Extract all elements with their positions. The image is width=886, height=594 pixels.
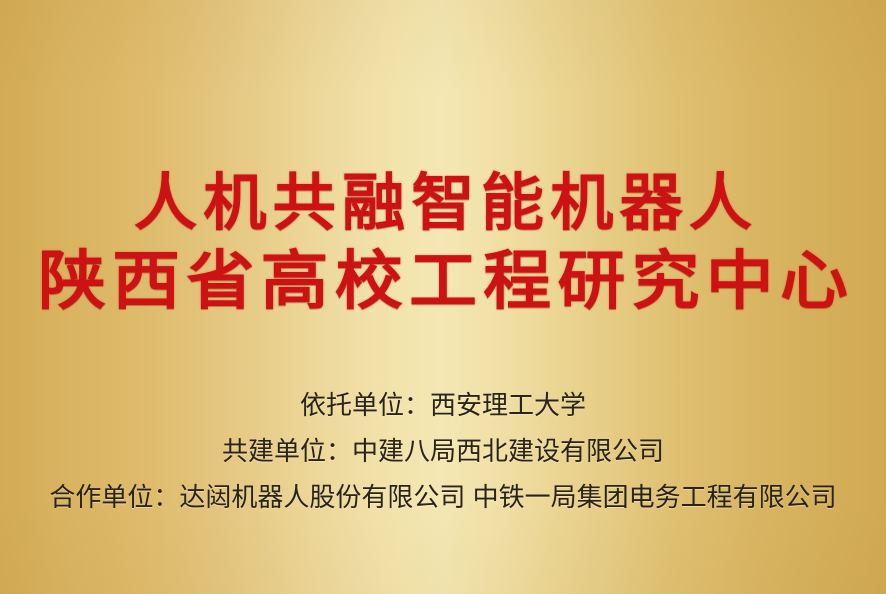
affiliation-co-building-unit: 共建单位：中建八局西北建设有限公司 — [0, 438, 886, 464]
plaque-content: 人机共融智能机器人 陕西省高校工程研究中心 依托单位：西安理工大学 共建单位：中… — [0, 0, 886, 594]
award-plaque: 人机共融智能机器人 陕西省高校工程研究中心 依托单位：西安理工大学 共建单位：中… — [0, 0, 886, 594]
affiliation-host-institution: 依托单位：西安理工大学 — [0, 392, 886, 418]
plaque-title-line-2: 陕西省高校工程研究中心 — [0, 250, 886, 314]
affiliation-list: 依托单位：西安理工大学 共建单位：中建八局西北建设有限公司 合作单位：达闼机器人… — [0, 392, 886, 510]
plaque-title-line-1: 人机共融智能机器人 — [0, 172, 886, 234]
plaque-title: 人机共融智能机器人 陕西省高校工程研究中心 — [0, 172, 886, 314]
affiliation-partner-units: 合作单位：达闼机器人股份有限公司 中铁一局集团电务工程有限公司 — [0, 484, 886, 510]
